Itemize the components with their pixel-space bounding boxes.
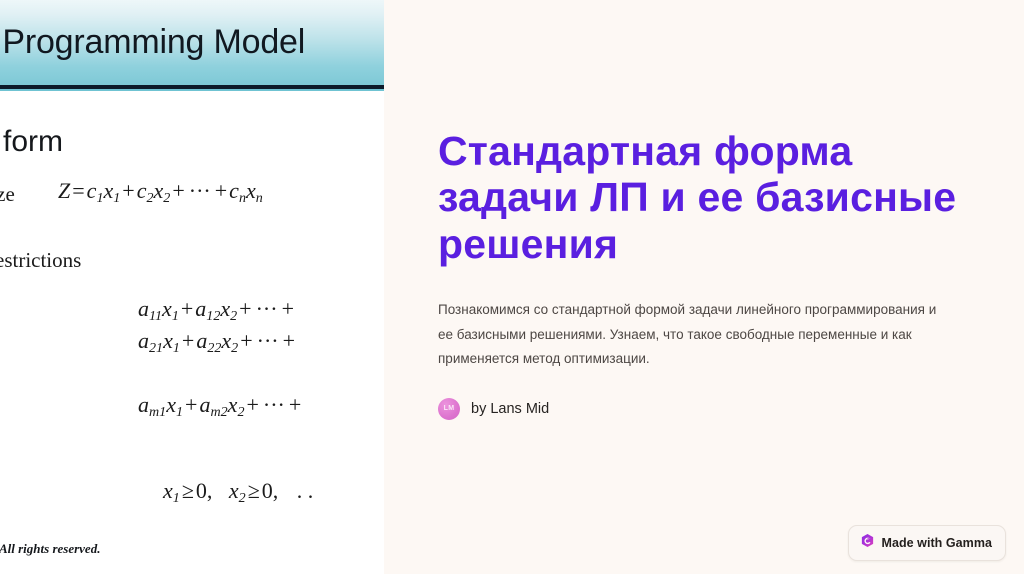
slide-section-heading: d form [0,125,63,159]
made-with-gamma-badge[interactable]: Made with Gamma [848,525,1007,561]
slide-header-title: r Programming Model [0,23,384,62]
slide-label-maximize: mize [0,182,15,207]
content-block: Стандартная форма задачи ЛП и ее базисны… [438,128,958,420]
gamma-swirl-icon [860,533,875,553]
slide-page: r Programming Model d form mize Z=c1x1+c… [0,0,1024,574]
equation-constraint-1: a11x1+a12x2+···+ [138,296,296,325]
byline: LM by Lans Mid [438,398,958,420]
slide-screenshot-image: r Programming Model d form mize Z=c1x1+c… [0,0,384,574]
equation-objective-function: Z=c1x1+c2x2+···+cnxn [58,178,263,207]
equation-constraint-2: a21x1+a22x2+···+ [138,328,297,357]
equation-nonnegativity: x1≥0, x2≥0, . . [163,478,315,507]
byline-author: by Lans Mid [471,401,549,417]
page-title: Стандартная форма задачи ЛП и ее базисны… [438,128,958,267]
made-with-gamma-label: Made with Gamma [882,536,993,550]
page-description: Познакомимся со стандартной формой задач… [438,298,938,372]
slide-label-restrictions: restrictions [0,248,81,273]
equation-constraint-m: am1x1+am2x2+···+ [138,392,303,421]
slide-copyright-footer: tion. All rights reserved. [0,541,100,557]
avatar: LM [438,398,460,420]
content-pane: Стандартная форма задачи ЛП и ее базисны… [384,0,1024,574]
slide-header-divider-accent [0,89,384,91]
